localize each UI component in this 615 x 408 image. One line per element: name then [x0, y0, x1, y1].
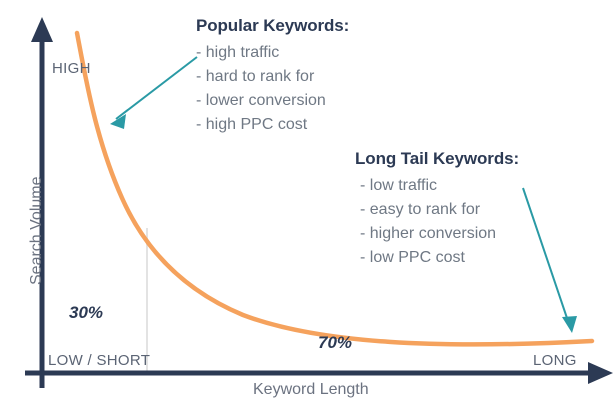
- callout-arrow-longtail-head-icon: [562, 316, 577, 333]
- popular-keywords-item-3: - high PPC cost: [196, 116, 307, 134]
- long-tail-keywords-item-0: - low traffic: [360, 177, 437, 195]
- x-axis-high-label: LONG: [533, 352, 577, 369]
- y-axis-arrowhead-icon: [31, 17, 53, 42]
- x-axis-title: Keyword Length: [253, 381, 369, 399]
- head-percent-annotation: 30%: [69, 303, 103, 323]
- x-axis-arrowhead-icon: [588, 362, 613, 384]
- seo-long-tail-keyword-chart: HIGH Search Volume Keyword Length LOW / …: [0, 0, 615, 408]
- popular-keywords-item-2: - lower conversion: [196, 92, 326, 110]
- demand-curve: [77, 33, 592, 344]
- long-tail-keywords-heading: Long Tail Keywords:: [355, 149, 519, 169]
- long-tail-keywords-item-1: - easy to rank for: [360, 201, 480, 219]
- y-axis-title: Search Volume: [28, 176, 46, 285]
- callout-arrow-popular: [116, 57, 197, 119]
- callout-arrow-longtail: [523, 188, 569, 324]
- y-axis-high-label: HIGH: [52, 60, 91, 77]
- long-tail-keywords-item-2: - higher conversion: [360, 225, 496, 243]
- x-axis-low-label: LOW / SHORT: [48, 352, 150, 369]
- tail-percent-annotation: 70%: [318, 333, 352, 353]
- long-tail-keywords-item-3: - low PPC cost: [360, 249, 465, 267]
- popular-keywords-item-0: - high traffic: [196, 44, 279, 62]
- popular-keywords-heading: Popular Keywords:: [196, 16, 349, 36]
- popular-keywords-item-1: - hard to rank for: [196, 68, 314, 86]
- chart-canvas: [0, 0, 615, 408]
